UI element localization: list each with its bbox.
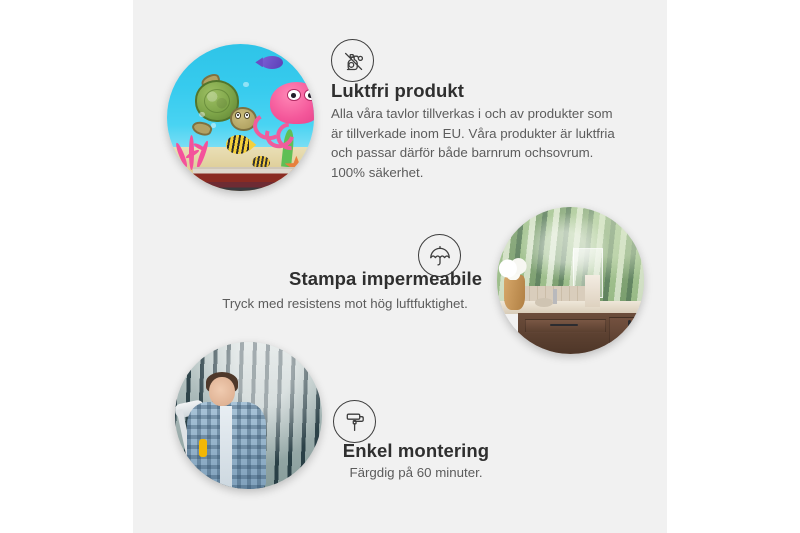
feature-description: Alla våra tavlor tillverkas i och av pro… <box>331 104 628 182</box>
turtle-illustration <box>191 79 259 132</box>
octopus-illustration <box>258 82 314 150</box>
feature-description: Färgdig på 60 minuter. <box>330 463 502 483</box>
feature-title: Stampa impermeabile <box>289 268 471 290</box>
woman-paint-roller-forest-photo <box>175 342 322 489</box>
feature-banner: Luktfri produkt Alla våra tavlor tillver… <box>0 0 800 533</box>
bathroom-wallpaper-photo <box>497 207 644 354</box>
coral-decoration <box>176 129 220 170</box>
woman-illustration <box>184 374 269 489</box>
feature-title: Enkel montering <box>330 440 502 462</box>
feature-title: Luktfri produkt <box>331 80 464 102</box>
feature-description: Tryck med resistens mot hög luftfuktighe… <box>219 294 471 314</box>
underwater-cartoon-photo <box>167 44 314 191</box>
paint-roller-icon <box>333 400 376 443</box>
no-fragrance-icon <box>331 39 374 82</box>
